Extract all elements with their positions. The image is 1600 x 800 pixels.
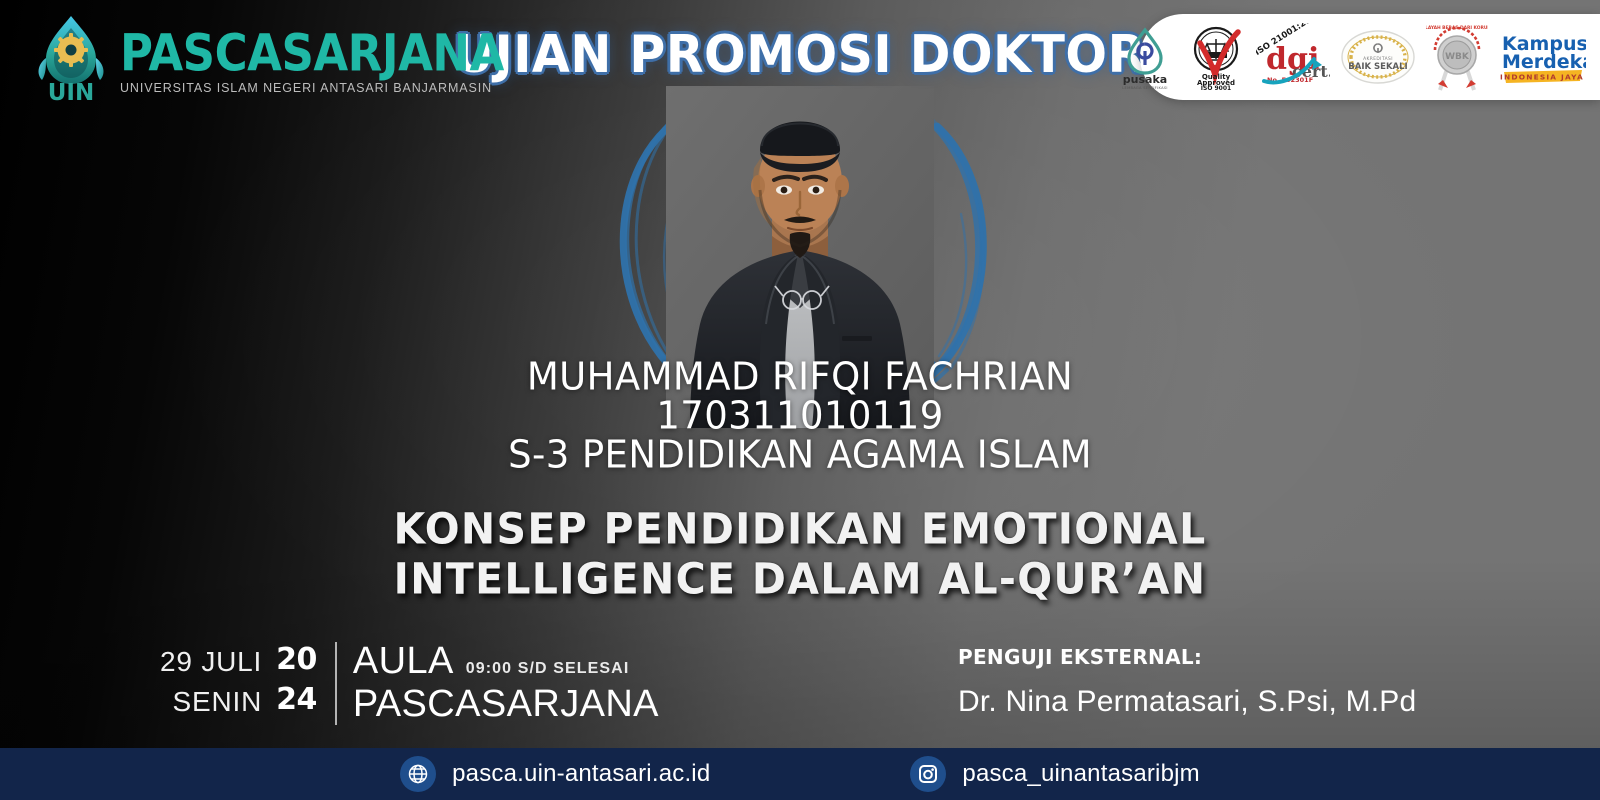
student-nim: 170311010119 [0,396,1600,436]
schedule-year-bottom: 24 [276,680,317,720]
svg-text:WILAYAH BEBAS DARI KORUPSI: WILAYAH BEBAS DARI KORUPSI [1426,25,1488,31]
akreditasi-baik-sekali-badge: AKREDITASI BAIK SEKALI [1340,28,1416,86]
svg-text:pusaka: pusaka [1123,73,1167,86]
svg-text:Merdeka: Merdeka [1502,51,1586,73]
svg-text:WBK: WBK [1445,52,1470,62]
pusaka-badge: pusaka LEMBAGA SERTIFIKASI [1114,24,1176,90]
svg-text:INDONESIA JAYA: INDONESIA JAYA [1500,73,1584,82]
venue-line1: AULA [353,640,454,683]
schedule-day: SENIN [173,682,263,722]
schedule-time: 09:00 S/D SELESAI [466,660,630,678]
website-text: pasca.uin-antasari.ac.id [452,760,710,788]
brand-logo: UIN PASCASARJANA UNIVERSITAS ISLAM NEGER… [32,14,504,102]
uin-wordmark: UIN [48,80,94,102]
thesis-title: KONSEP PENDIDIKAN EMOTIONAL INTELLIGENCE… [0,504,1600,604]
examiner-name: Dr. Nina Permatasari, S.Psi, M.Pd [958,685,1416,719]
quality-approved-iso-9001-badge: Quality Approved ISO 9001 [1186,23,1246,91]
instagram-contact[interactable]: pasca_uinantasaribjm [910,756,1199,792]
year-block: 20 24 [276,640,317,720]
svg-text:LEMBAGA SERTIFIKASI: LEMBAGA SERTIFIKASI [1122,86,1168,90]
schedule-year-top: 20 [276,640,317,680]
poster-canvas: UIN PASCASARJANA UNIVERSITAS ISLAM NEGER… [0,0,1600,800]
accreditation-panel: pusaka LEMBAGA SERTIFIKASI Quality Appro… [1140,14,1600,100]
svg-text:BAIK SEKALI: BAIK SEKALI [1348,62,1407,72]
schedule-block: 29 JULI SENIN 20 24 AULA 09:00 S/D SELES… [160,640,659,725]
wbk-wbbm-silver-badge: WILAYAH BEBAS DARI KORUPSI WBK [1426,22,1488,92]
website-contact[interactable]: pasca.uin-antasari.ac.id [400,756,710,792]
brand-title: PASCASARJANA [120,28,504,78]
student-identity: MUHAMMAD RIFQI FACHRIAN 170311010119 S-3… [0,358,1600,475]
student-program: S-3 PENDIDIKAN AGAMA ISLAM [0,435,1600,475]
examiner-label: PENGUJI EKSTERNAL: [958,645,1416,669]
venue-block: AULA 09:00 S/D SELESAI PASCASARJANA [353,640,659,725]
instagram-text: pasca_uinantasaribjm [962,760,1199,788]
schedule-divider [335,642,337,725]
date-day-block: 29 JULI SENIN [160,640,262,722]
thesis-title-line2: INTELLIGENCE DALAM AL-QUR’AN [0,553,1600,605]
footer-bar: pasca.uin-antasari.ac.id pasca_uinantasa… [0,748,1600,800]
instagram-icon [910,756,946,792]
kampus-merdeka-badge: Kampus Merdeka INDONESIA JAYA [1498,28,1586,86]
brand-subtitle: UNIVERSITAS ISLAM NEGERI ANTASARI BANJAR… [120,82,504,95]
thesis-title-line1: KONSEP PENDIDIKAN EMOTIONAL [0,503,1600,555]
globe-icon [400,756,436,792]
schedule-date: 29 JULI [160,642,262,682]
brand-text: PASCASARJANA UNIVERSITAS ISLAM NEGERI AN… [120,22,504,95]
examiner-block: PENGUJI EKSTERNAL: Dr. Nina Permatasari,… [958,645,1416,719]
student-name: MUHAMMAD RIFQI FACHRIAN [0,357,1600,397]
venue-line2: PASCASARJANA [353,683,659,726]
svg-text:ISO 9001: ISO 9001 [1201,85,1231,91]
dgi-cert-iso-21001-badge: ISO 21001:2018 dgi cert. No. E02301F [1256,23,1330,91]
uin-lotus-logo-icon: UIN [32,14,110,102]
